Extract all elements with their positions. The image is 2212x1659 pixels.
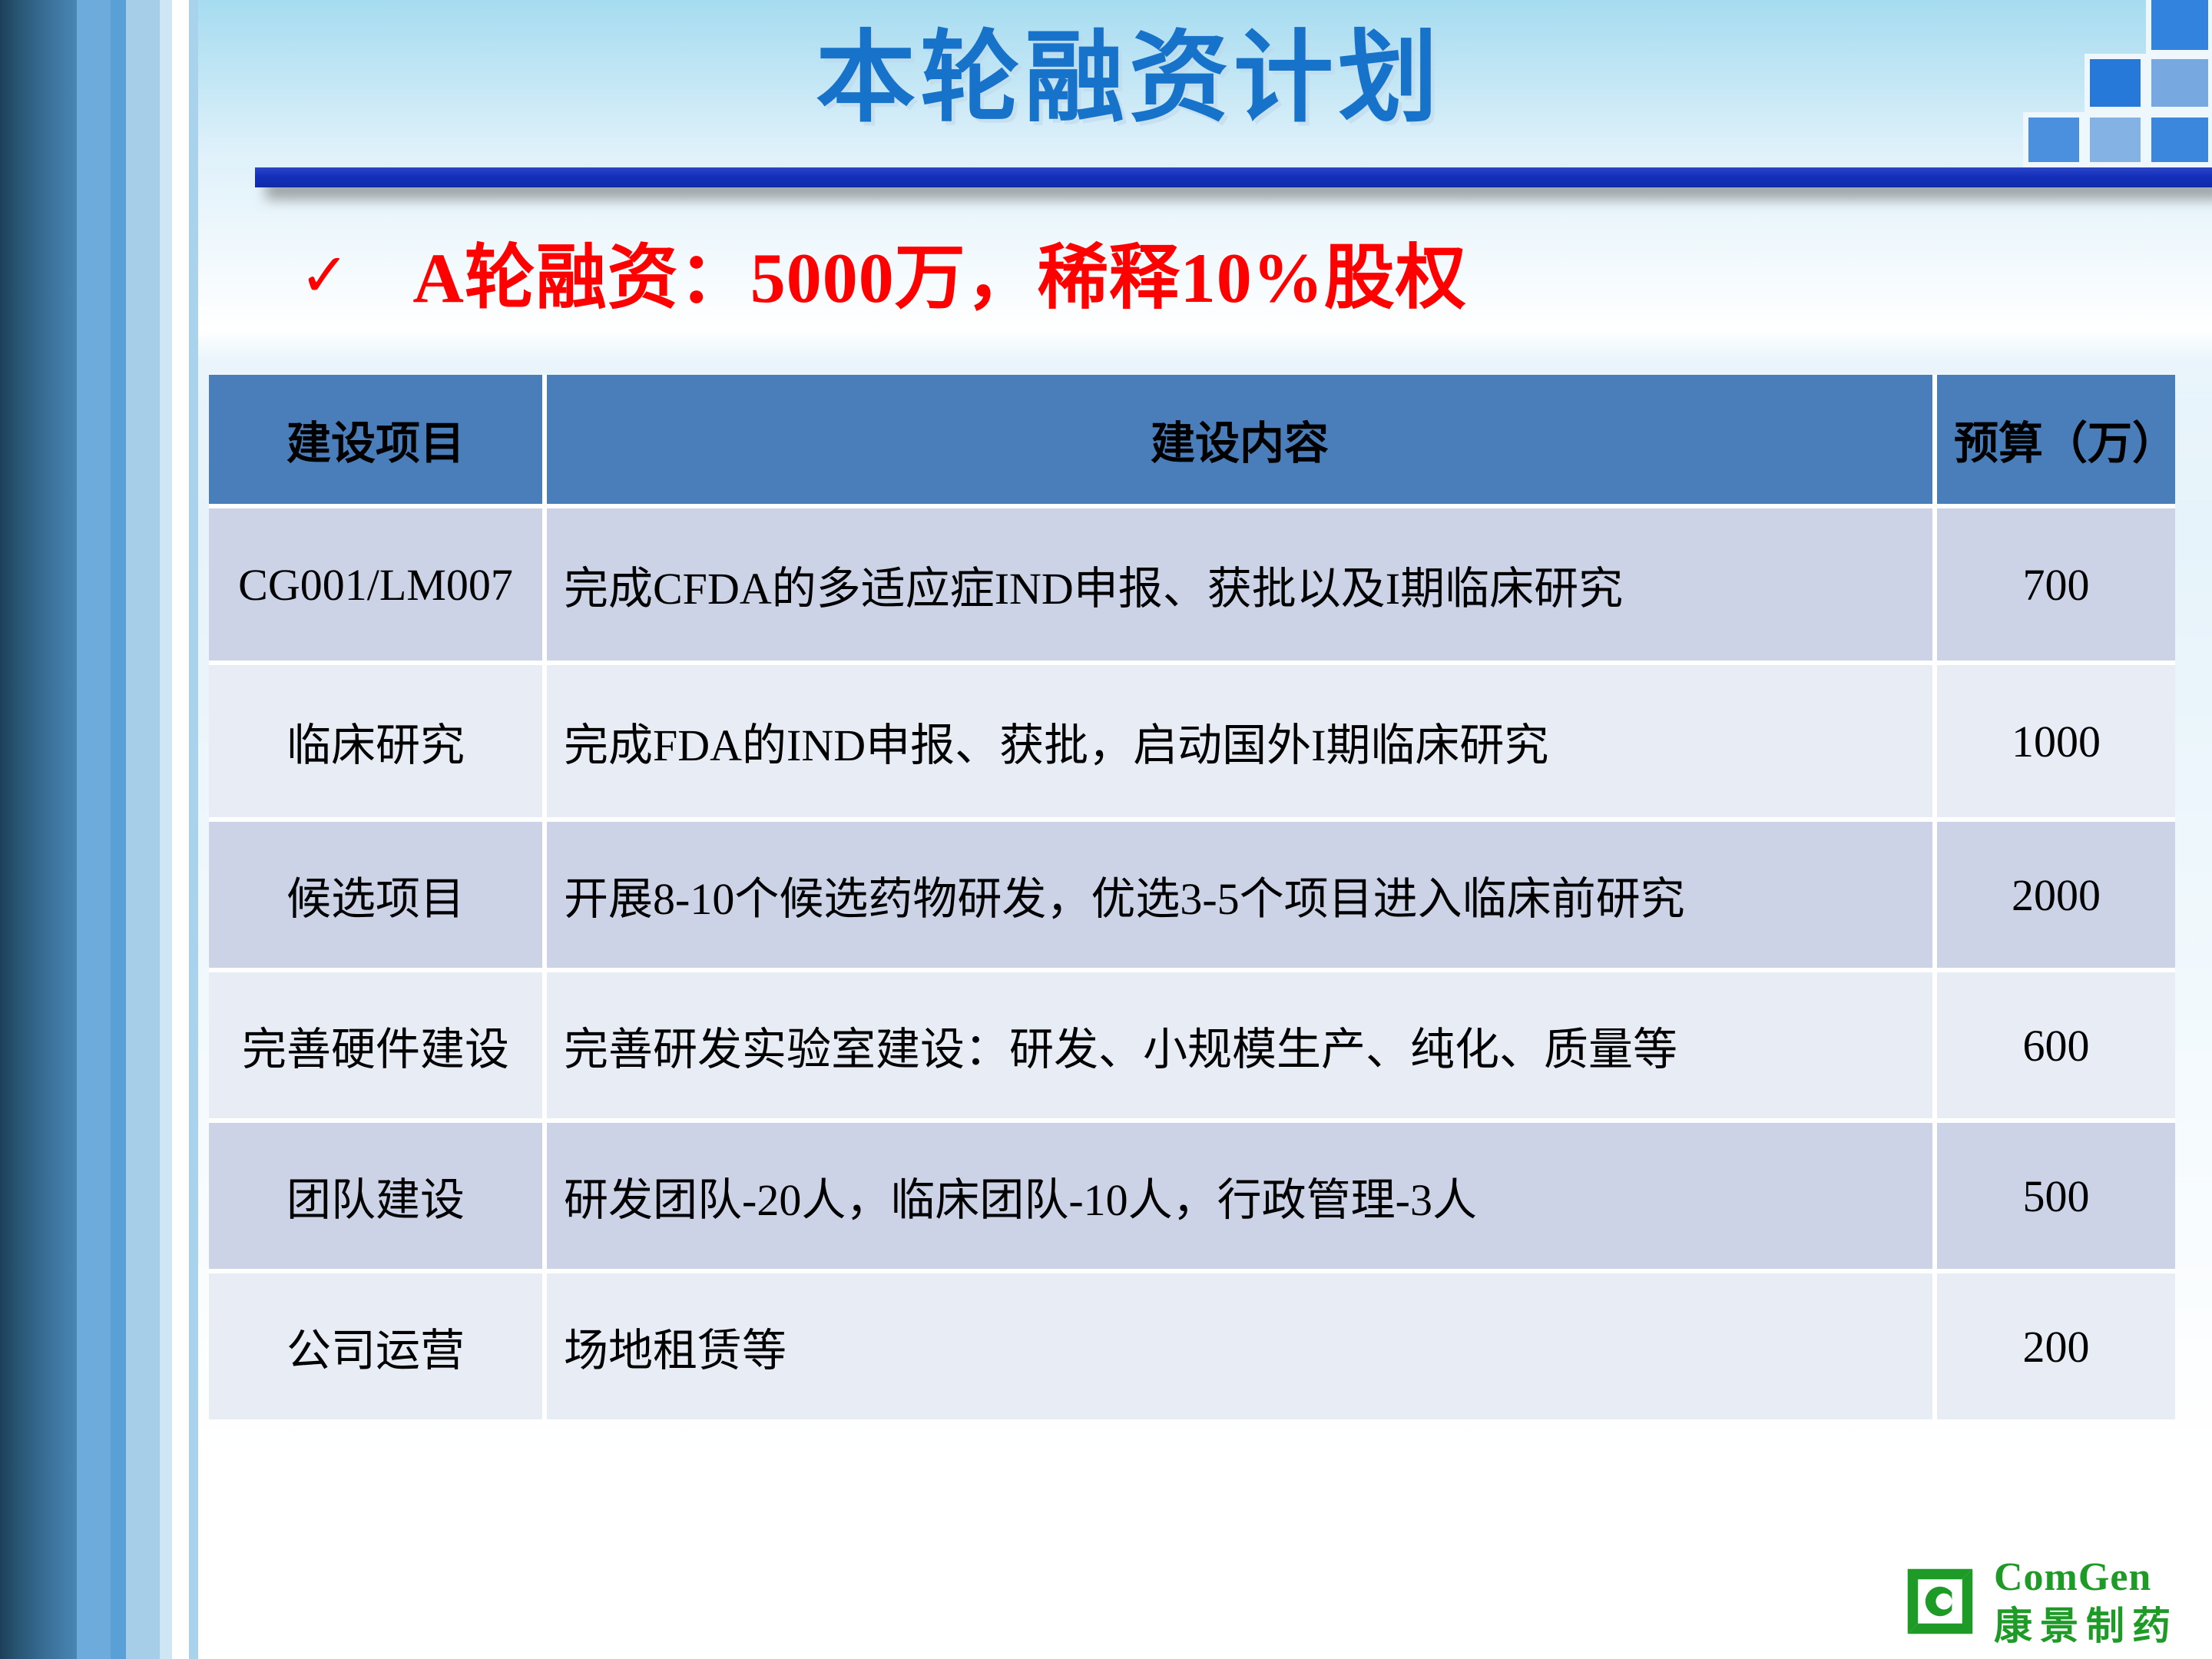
funding-summary-text: A轮融资：5000万，稀释10%股权 <box>412 240 1466 317</box>
table-body: CG001/LM007 完成CFDA的多适应症IND申报、获批以及I期临床研究 … <box>209 508 2175 1424</box>
cell-budget: 2000 <box>1937 822 2175 972</box>
table-row: 团队建设 研发团队-20人，临床团队-10人，行政管理-3人 500 <box>209 1123 2175 1273</box>
cell-budget: 200 <box>1937 1273 2175 1424</box>
comgen-mark-icon <box>1903 1565 1977 1638</box>
cell-content: 完善研发实验室建设：研发、小规模生产、纯化、质量等 <box>547 972 1937 1123</box>
logo-wordmark: ComGen 康景制药 <box>1994 1558 2178 1645</box>
cell-item: 临床研究 <box>209 665 547 822</box>
budget-table: 建设项目 建设内容 预算（万） CG001/LM007 完成CFDA的多适应症I… <box>209 375 2175 1424</box>
decor-square-3 <box>2146 54 2212 112</box>
cell-content: 场地租赁等 <box>547 1273 1937 1424</box>
table-row: 完善硬件建设 完善研发实验室建设：研发、小规模生产、纯化、质量等 600 <box>209 972 2175 1123</box>
budget-table-container: 建设项目 建设内容 预算（万） CG001/LM007 完成CFDA的多适应症I… <box>209 375 2175 1424</box>
checkmark-icon: ✓ <box>300 246 349 306</box>
cell-content: 完成CFDA的多适应症IND申报、获批以及I期临床研究 <box>547 508 1937 665</box>
table-row: 候选项目 开展8-10个候选药物研发，优选3-5个项目进入临床前研究 2000 <box>209 822 2175 972</box>
cell-content: 研发团队-20人，临床团队-10人，行政管理-3人 <box>547 1123 1937 1273</box>
header-content: 建设内容 <box>547 375 1937 508</box>
header-item: 建设项目 <box>209 375 547 508</box>
corner-squares-decoration <box>2020 0 2212 173</box>
stripe-medium-blue <box>77 0 111 1659</box>
cell-item: 候选项目 <box>209 822 547 972</box>
stripe-dark-gradient <box>0 0 77 1659</box>
slide-canvas: 本轮融资计划 ✓ A轮融资：5000万，稀释10%股权 建设项目 建设内容 预算… <box>0 0 2212 1659</box>
table-header-row: 建设项目 建设内容 预算（万） <box>209 375 2175 508</box>
logo-name-cn: 康景制药 <box>1994 1607 2178 1645</box>
table-head: 建设项目 建设内容 预算（万） <box>209 375 2175 508</box>
decor-square-5 <box>2085 112 2146 167</box>
table-row: 公司运营 场地租赁等 200 <box>209 1273 2175 1424</box>
table-row: CG001/LM007 完成CFDA的多适应症IND申报、获批以及I期临床研究 … <box>209 508 2175 665</box>
stripe-accent-blue <box>111 0 126 1659</box>
highlight-bullet-row: ✓ A轮融资：5000万，稀释10%股权 <box>300 240 1467 317</box>
cell-item: CG001/LM007 <box>209 508 547 665</box>
cell-content: 完成FDA的IND申报、获批，启动国外I期临床研究 <box>547 665 1937 822</box>
logo-name-en: ComGen <box>1994 1558 2178 1598</box>
header-budget: 预算（万） <box>1937 375 2175 508</box>
cell-budget: 700 <box>1937 508 2175 665</box>
cell-budget: 1000 <box>1937 665 2175 822</box>
cell-budget: 600 <box>1937 972 2175 1123</box>
cell-budget: 500 <box>1937 1123 2175 1273</box>
stripe-edge-blue <box>189 0 198 1659</box>
cell-item: 完善硬件建设 <box>209 972 547 1123</box>
cell-item: 团队建设 <box>209 1123 547 1273</box>
decor-square-6 <box>2146 112 2212 167</box>
table-row: 临床研究 完成FDA的IND申报、获批，启动国外I期临床研究 1000 <box>209 665 2175 822</box>
left-stripe-decoration <box>0 0 209 1659</box>
stripe-pale-blue <box>160 0 172 1659</box>
decor-square-1 <box>2146 0 2212 55</box>
decor-square-4 <box>2023 112 2085 167</box>
stripe-light-blue <box>126 0 160 1659</box>
decor-square-2 <box>2085 54 2146 112</box>
cell-content: 开展8-10个候选药物研发，优选3-5个项目进入临床前研究 <box>547 822 1937 972</box>
company-logo: ComGen 康景制药 <box>1903 1558 2178 1645</box>
slide-title: 本轮融资计划 <box>253 15 2005 141</box>
stripe-white <box>172 0 189 1659</box>
title-underline-bar <box>255 167 2212 187</box>
cell-item: 公司运营 <box>209 1273 547 1424</box>
